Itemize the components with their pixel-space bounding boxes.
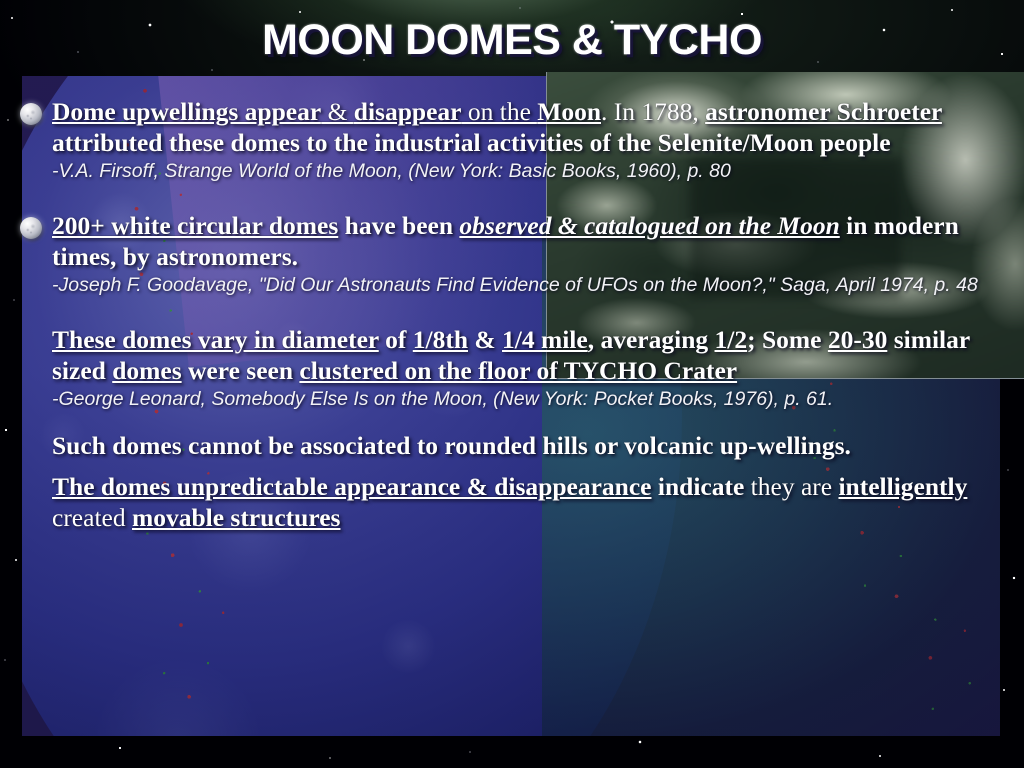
paragraph-text: These domes vary in diameter of 1/8th & … [52, 324, 1002, 386]
text-run: . In 1788, [601, 97, 705, 126]
text-run: observed & catalogued on the Moon [459, 211, 839, 240]
text-block: The domes unpredictable appearance & dis… [52, 471, 1002, 533]
text-run: have been [338, 211, 459, 240]
slide-canvas: MOON DOMES & TYCHO Dome upwellings appea… [0, 0, 1024, 768]
citation-text: -George Leonard, Somebody Else Is on the… [52, 387, 1002, 412]
text-run: These domes vary in diameter [52, 325, 379, 354]
text-run: intelligently [838, 472, 967, 501]
slide-body: Dome upwellings appear & disappear on th… [52, 96, 1002, 533]
page-title: MOON DOMES & TYCHO [0, 18, 1024, 63]
text-run: of [379, 325, 413, 354]
text-run: 1/8th [413, 325, 468, 354]
moon-sphere-bullet-icon [20, 103, 42, 125]
text-run: & [321, 97, 354, 126]
block-spacer [52, 298, 1002, 324]
text-run: were seen [182, 356, 300, 385]
text-run: , averaging [588, 325, 715, 354]
text-run: created [52, 503, 132, 532]
text-run: Dome upwellings appear [52, 97, 321, 126]
text-run: & [468, 325, 502, 354]
paragraph-text: The domes unpredictable appearance & dis… [52, 471, 1002, 533]
text-block: Dome upwellings appear & disappear on th… [52, 96, 1002, 184]
text-run: Such domes cannot be associated to round… [52, 431, 851, 460]
text-run: The domes unpredictable appearance & dis… [52, 472, 652, 501]
text-run: Moon [537, 97, 601, 126]
text-run: attributed these domes to the industrial… [52, 128, 891, 157]
block-spacer [52, 412, 1002, 430]
text-run: clustered on the floor of TYCHO Crater [299, 356, 737, 385]
text-block: Such domes cannot be associated to round… [52, 430, 1002, 461]
citation-text: -V.A. Firsoff, Strange World of the Moon… [52, 159, 1002, 184]
paragraph-text: 200+ white circular domes have been obse… [52, 210, 1002, 272]
paragraph-text: Dome upwellings appear & disappear on th… [52, 96, 1002, 158]
block-spacer [52, 461, 1002, 471]
block-spacer [52, 184, 1002, 210]
text-run: they are [751, 472, 839, 501]
text-run: domes [112, 356, 181, 385]
text-run: movable structures [132, 503, 340, 532]
text-run: 20-30 [828, 325, 888, 354]
text-block: 200+ white circular domes have been obse… [52, 210, 1002, 298]
text-run: on the [461, 97, 537, 126]
text-run: 200+ white circular domes [52, 211, 338, 240]
text-run: disappear [354, 97, 462, 126]
text-run: ; Some [747, 325, 828, 354]
text-run: 1/2 [715, 325, 748, 354]
text-block: These domes vary in diameter of 1/8th & … [52, 324, 1002, 412]
text-run: astronomer Schroeter [705, 97, 942, 126]
paragraph-text: Such domes cannot be associated to round… [52, 430, 1002, 461]
text-run: 1/4 mile [502, 325, 588, 354]
text-run: indicate [652, 472, 751, 501]
moon-sphere-bullet-icon [20, 217, 42, 239]
citation-text: -Joseph F. Goodavage, "Did Our Astronaut… [52, 273, 1002, 298]
